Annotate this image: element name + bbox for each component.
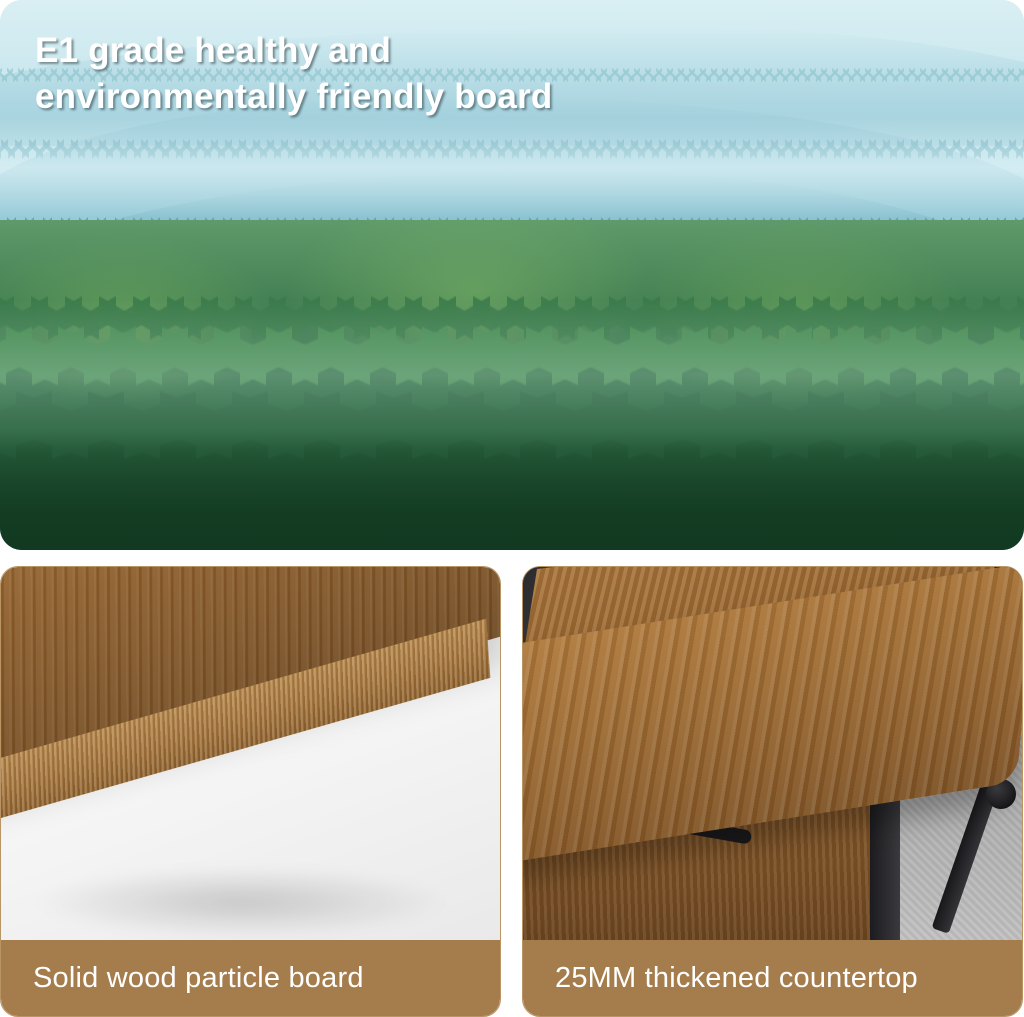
caption-bar-countertop: 25MM thickened countertop bbox=[523, 940, 1022, 1016]
feature-panel-board: Solid wood particle board bbox=[0, 566, 501, 1017]
feature-panel-countertop: 25MM thickened countertop bbox=[522, 566, 1023, 1017]
caption-text-countertop: 25MM thickened countertop bbox=[523, 962, 918, 995]
product-feature-collage: E1 grade healthy and environmentally fri… bbox=[0, 0, 1024, 1017]
caption-text-board: Solid wood particle board bbox=[1, 962, 364, 995]
board-photo bbox=[1, 567, 500, 942]
feature-panel-row: Solid wood particle board 25MM thickened… bbox=[0, 566, 1024, 1017]
hero-forest-image: E1 grade healthy and environmentally fri… bbox=[0, 0, 1024, 550]
foreground-forest bbox=[0, 220, 1024, 550]
board-drop-shadow bbox=[31, 867, 451, 937]
desk-photo bbox=[523, 567, 1022, 942]
caption-bar-board: Solid wood particle board bbox=[1, 940, 500, 1016]
forest-floor-shadow bbox=[0, 430, 1024, 550]
hero-headline: E1 grade healthy and environmentally fri… bbox=[35, 28, 795, 120]
treeline-mid bbox=[0, 122, 1024, 176]
